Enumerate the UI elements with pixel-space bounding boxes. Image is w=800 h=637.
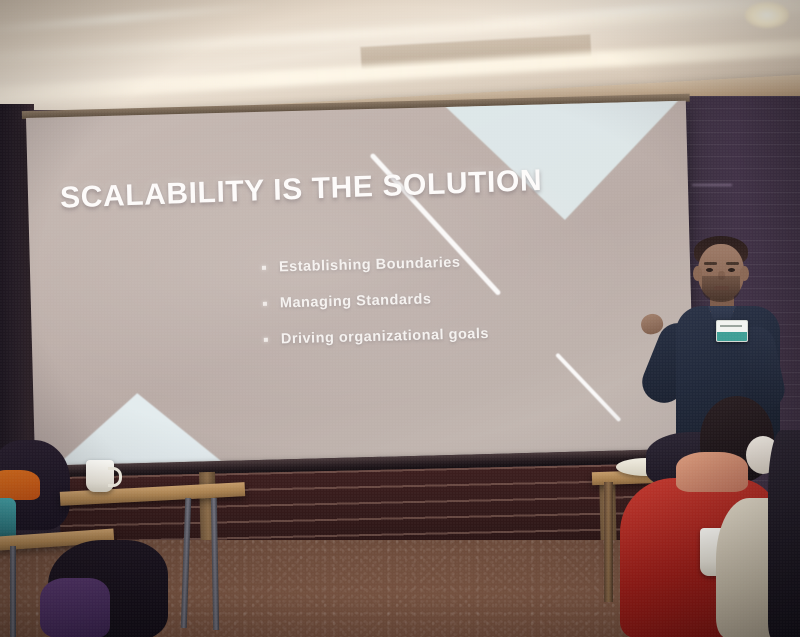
slide-stripe-bottom-right: [555, 353, 621, 422]
wall-highlight: [692, 184, 732, 186]
bullet-text: Establishing Boundaries: [279, 255, 461, 276]
slide-surface: SCALABILITY IS THE SOLUTION Establishing…: [26, 101, 695, 466]
badge-accent-bar: [717, 332, 747, 341]
presenter-brow: [704, 262, 717, 265]
projector-screen: SCALABILITY IS THE SOLUTION Establishing…: [26, 101, 695, 466]
presenter-ear: [693, 266, 702, 281]
audience-far-right-dark: [768, 430, 800, 637]
bullet-text: Managing Standards: [280, 291, 432, 311]
audience-patterned-scarf: [676, 452, 748, 492]
bullet-marker-icon: [264, 338, 268, 342]
slide-triangle-top-right: [444, 101, 683, 223]
bullet-text: Driving organizational goals: [281, 326, 490, 347]
table-leg: [604, 482, 613, 602]
list-item: Managing Standards: [263, 290, 489, 312]
bullet-marker-icon: [263, 302, 267, 306]
slide-triangle-bottom-left: [55, 391, 221, 465]
ceiling-downlight: [745, 2, 789, 28]
presenter-eye: [728, 268, 735, 272]
list-item: Driving organizational goals: [264, 326, 490, 348]
slide-bullet-list: Establishing Boundaries Managing Standar…: [262, 254, 489, 348]
presentation-photo-scene: SCALABILITY IS THE SOLUTION Establishing…: [0, 0, 800, 637]
bullet-marker-icon: [262, 266, 266, 270]
list-item: Establishing Boundaries: [262, 254, 488, 276]
table-leg: [10, 546, 16, 637]
presenter-eye: [706, 268, 713, 272]
presenter-ear: [740, 266, 749, 281]
badge-text-line: [720, 325, 742, 327]
presenter-mouth: [714, 286, 729, 290]
presenter-brow: [726, 262, 739, 265]
orange-item: [0, 470, 40, 500]
coffee-mug-left: [86, 460, 114, 492]
presenter-name-badge: [716, 320, 748, 342]
audience-left-purple-item: [40, 578, 110, 637]
